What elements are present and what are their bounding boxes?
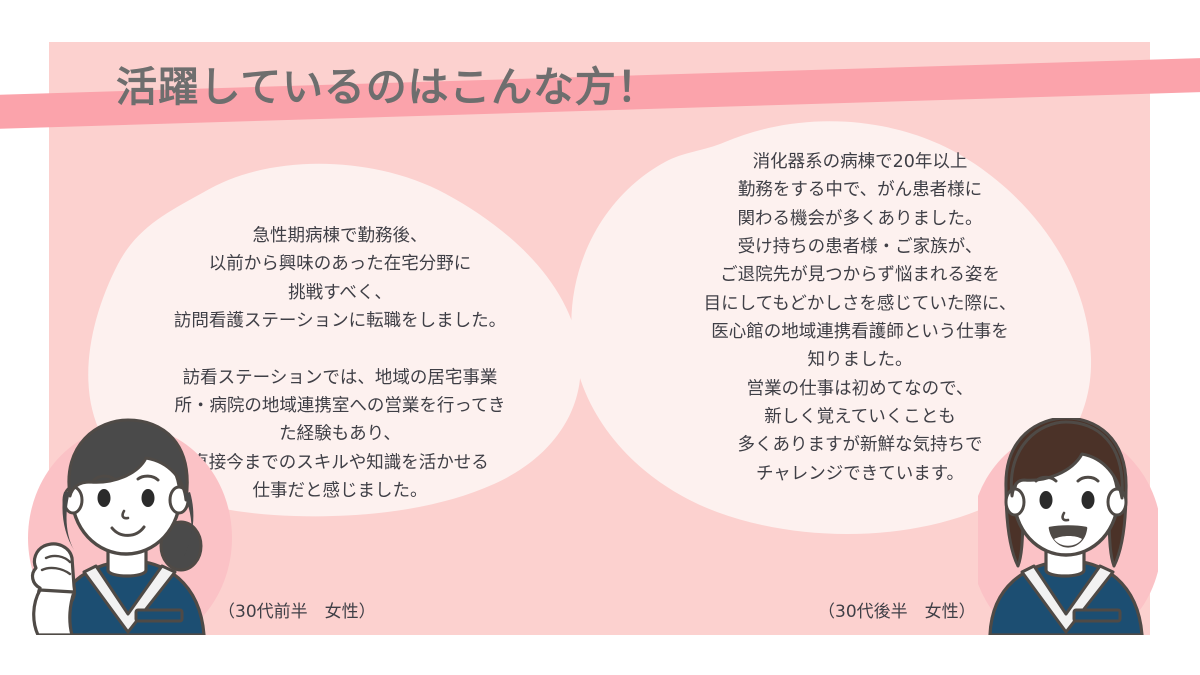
attribution-right: （30代後半 女性） <box>818 597 976 622</box>
slide-canvas: 急性期病棟で勤務後、 以前から興味のあった在宅分野に 挑戦すべく、 訪問看護ステ… <box>0 0 1200 675</box>
nurse-avatar-right <box>978 418 1158 638</box>
attribution-left: （30代前半 女性） <box>218 597 376 622</box>
nurse-avatar-left <box>18 418 233 638</box>
page-title: 活躍しているのはこんな方！ <box>116 62 658 113</box>
